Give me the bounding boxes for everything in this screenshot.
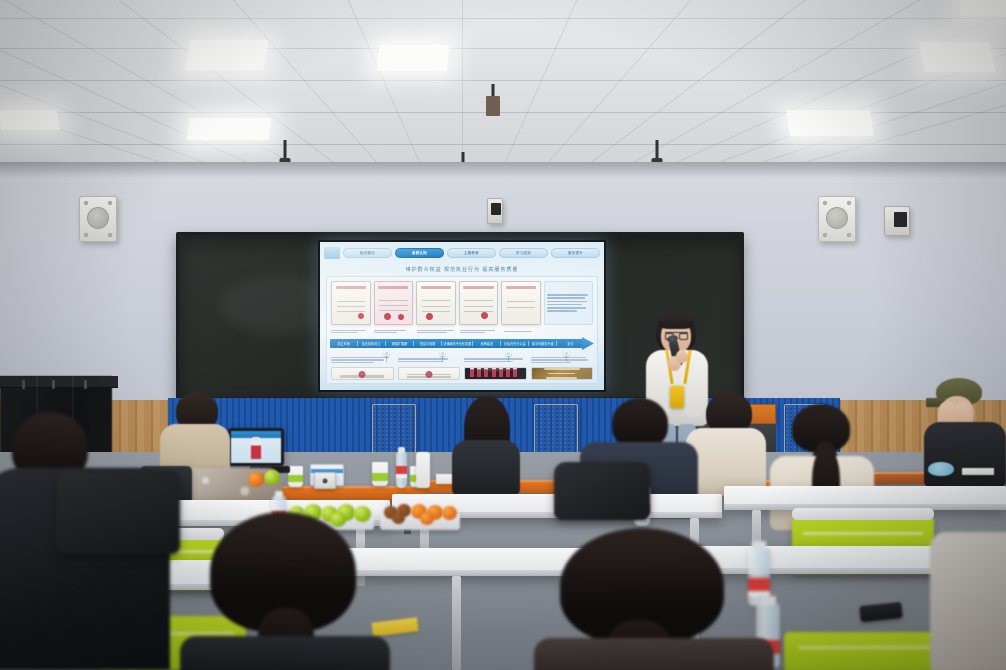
attendee-torso [924, 422, 1006, 488]
timeline-segment: 法律服务专业化发展 [442, 341, 474, 346]
cup [372, 462, 388, 486]
cup [288, 466, 303, 487]
curtain-hook [84, 380, 87, 389]
attendee-torso [180, 636, 390, 670]
certificate-card [331, 281, 371, 325]
certificate-caption [417, 327, 457, 336]
presenter-fringe [658, 314, 694, 329]
slide-bottom-cards [331, 355, 593, 380]
timeline-segment: 数字化服务升级 [529, 341, 557, 346]
ceiling-light-panel [786, 110, 874, 136]
slide-body: 成立时间 执业机构设立 规模扩展期 党建引领期 法律服务专业化发展 品牌建设 社… [326, 276, 598, 384]
slide-headline-text: 维护群众权益 规范执业行为 提高服务质量 [406, 266, 519, 273]
slide-card-caption [398, 355, 461, 365]
foreground-attendee-right [540, 528, 770, 670]
orange-fruit [420, 512, 434, 525]
slide-card [398, 355, 461, 380]
black-backpack [554, 462, 650, 520]
slide-card-plaque [531, 367, 594, 380]
slide-card-caption [531, 355, 594, 365]
certificate-row [331, 281, 593, 325]
slide-tab-4[interactable]: 服务提升 [551, 248, 600, 258]
certificate-caption [374, 327, 414, 336]
black-backpack [56, 470, 180, 554]
chair-back-top [792, 508, 934, 520]
slide-tab-label: 主题教育 [464, 250, 479, 255]
slide-card-caption [331, 355, 394, 365]
timeline-segment: 品牌建设 [473, 341, 501, 346]
green-chair [784, 632, 954, 670]
orange-fruit [442, 506, 457, 520]
slide-tab-2[interactable]: 主题教育 [447, 248, 496, 258]
slide-card [531, 355, 594, 380]
certificate-caption [504, 327, 544, 336]
slide-tab-3[interactable]: 学习成效 [499, 248, 548, 258]
classroom-photo-scene: 组织概况 自我认知 主题教育 学习成效 服务提升 维护群众权益 规范执业行为 提… [0, 0, 1006, 670]
apple [264, 470, 280, 485]
certificate-card [459, 281, 499, 325]
ceiling-light-panel [187, 118, 272, 140]
white-canister [416, 452, 430, 488]
certificate-caption [331, 327, 371, 336]
curtain-rail [0, 376, 118, 388]
certificate-card [416, 281, 456, 325]
slide-logo-icon [324, 247, 340, 259]
attendee-black-jacket-long-hair [446, 396, 526, 496]
attendee-torso [930, 532, 1006, 670]
curtain-hook [52, 380, 55, 389]
attendee-hair [612, 398, 668, 448]
curtain-hook [22, 380, 25, 389]
ceiling-light-panel [919, 42, 995, 72]
timeline-arrow-icon [582, 337, 594, 350]
timeline-segment: 规模扩展期 [386, 341, 414, 346]
slide-tab-0[interactable]: 组织概况 [343, 248, 392, 258]
foreground-attendee-ponytail [180, 512, 390, 670]
certificate-caption [460, 327, 500, 336]
wall-ceiling-shadow [0, 162, 1006, 178]
slide-tab-label: 学习成效 [516, 250, 531, 255]
slide-card-photo [464, 367, 527, 380]
slide-card-document [331, 367, 394, 380]
slide-tab-label: 组织概况 [360, 250, 375, 255]
presenter-hand [676, 350, 688, 363]
slide-card [464, 355, 527, 380]
water-bottle [396, 452, 407, 488]
timeline-segment: 党建引领期 [414, 341, 442, 346]
timeline-segment: 成立时间 [330, 341, 358, 346]
notebook-right [962, 468, 994, 475]
wall-camera-right [884, 206, 910, 236]
certificate-card [374, 281, 414, 325]
foreground-attendee-far-right [930, 492, 1006, 670]
slide-tab-label: 自我认知 [412, 250, 427, 255]
blue-face-mask [928, 462, 954, 476]
left-wall-speaker [79, 196, 117, 242]
slide-tab-bar: 组织概况 自我认知 主题教育 学习成效 服务提升 [324, 247, 600, 259]
slide-card [331, 355, 394, 380]
slide-timeline: 成立时间 执业机构设立 规模扩展期 党建引领期 法律服务专业化发展 品牌建设 社… [330, 338, 594, 349]
projection-screen: 组织概况 自我认知 主题教育 学习成效 服务提升 维护群众权益 规范执业行为 提… [318, 240, 606, 392]
presenter-monitor [228, 428, 284, 466]
ceiling-light-panel [185, 40, 268, 70]
attendee-torso [452, 440, 520, 496]
ceiling-light-panel [0, 110, 59, 130]
certificate-caption-row [331, 327, 593, 336]
attendee-torso [534, 638, 774, 670]
certificate-card [501, 281, 541, 325]
ceiling-light-panel [377, 45, 450, 71]
date-fruit [392, 512, 405, 524]
certificate-note [544, 281, 593, 325]
slide-card-document [398, 367, 461, 380]
timeline-segment: 至今 [557, 341, 584, 346]
slide-tab-label: 服务提升 [568, 250, 583, 255]
slide-tab-1[interactable]: 自我认知 [395, 248, 444, 258]
desk-camera-device [314, 472, 336, 489]
timeline-bar: 成立时间 执业机构设立 规模扩展期 党建引领期 法律服务专业化发展 品牌建设 社… [330, 339, 584, 348]
projector-mount [482, 84, 504, 118]
timeline-segment: 社会责任与公益 [501, 341, 529, 346]
wall-camera-center [487, 198, 503, 224]
presentation-slide: 组织概况 自我认知 主题教育 学习成效 服务提升 维护群众权益 规范执业行为 提… [320, 242, 604, 390]
orange-fruit [248, 472, 264, 487]
slide-headline: 维护群众权益 规范执业行为 提高服务质量 [328, 264, 596, 275]
slide-card-caption [464, 355, 527, 365]
timeline-segment: 执业机构设立 [358, 341, 386, 346]
ceiling-light-panel [960, 0, 1006, 16]
right-wall-speaker [818, 196, 856, 242]
